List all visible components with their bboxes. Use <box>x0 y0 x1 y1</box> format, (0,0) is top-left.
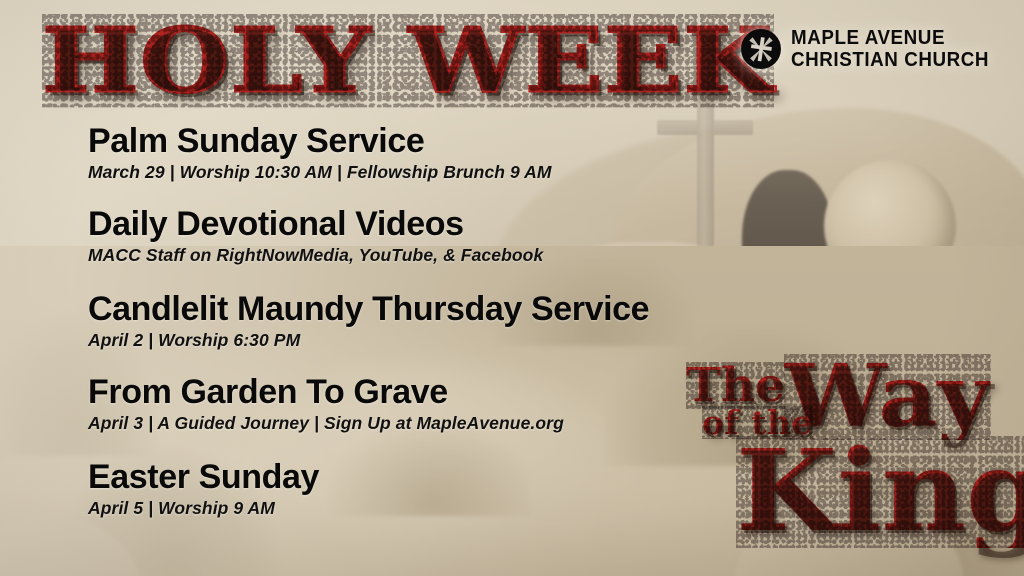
event-item-maundy-thursday: Candlelit Maundy Thursday Service April … <box>88 290 808 351</box>
sermon-series-logo: The Way of the King <box>676 358 1016 558</box>
event-item-daily-devotional: Daily Devotional Videos MACC Staff on Ri… <box>88 205 808 266</box>
series-word-king: King <box>736 436 1024 548</box>
church-logo: MAPLE AVENUE CHRISTIAN CHURCH <box>740 28 1002 70</box>
cross-in-circle-icon <box>740 28 782 70</box>
series-word-the: The <box>686 362 785 409</box>
event-title: Palm Sunday Service <box>88 122 808 160</box>
event-title: Daily Devotional Videos <box>88 205 808 243</box>
church-name-line1: MAPLE AVENUE <box>791 28 989 48</box>
event-details: MACC Staff on RightNowMedia, YouTube, & … <box>88 244 808 266</box>
event-details: March 29 | Worship 10:30 AM | Fellowship… <box>88 161 808 183</box>
event-details: April 2 | Worship 6:30 PM <box>88 329 808 351</box>
church-logo-text: MAPLE AVENUE CHRISTIAN CHURCH <box>791 28 1002 70</box>
event-item-palm-sunday: Palm Sunday Service March 29 | Worship 1… <box>88 122 808 183</box>
page-title-text: HOLY WEEK <box>42 14 774 107</box>
church-name-line2: CHRISTIAN CHURCH <box>791 50 989 70</box>
page-title: HOLY WEEK <box>42 14 774 107</box>
poster-canvas: HOLY WEEK MAPLE AVENUE CHRISTIAN CHURCH … <box>0 0 1024 576</box>
event-title: Candlelit Maundy Thursday Service <box>88 290 808 328</box>
